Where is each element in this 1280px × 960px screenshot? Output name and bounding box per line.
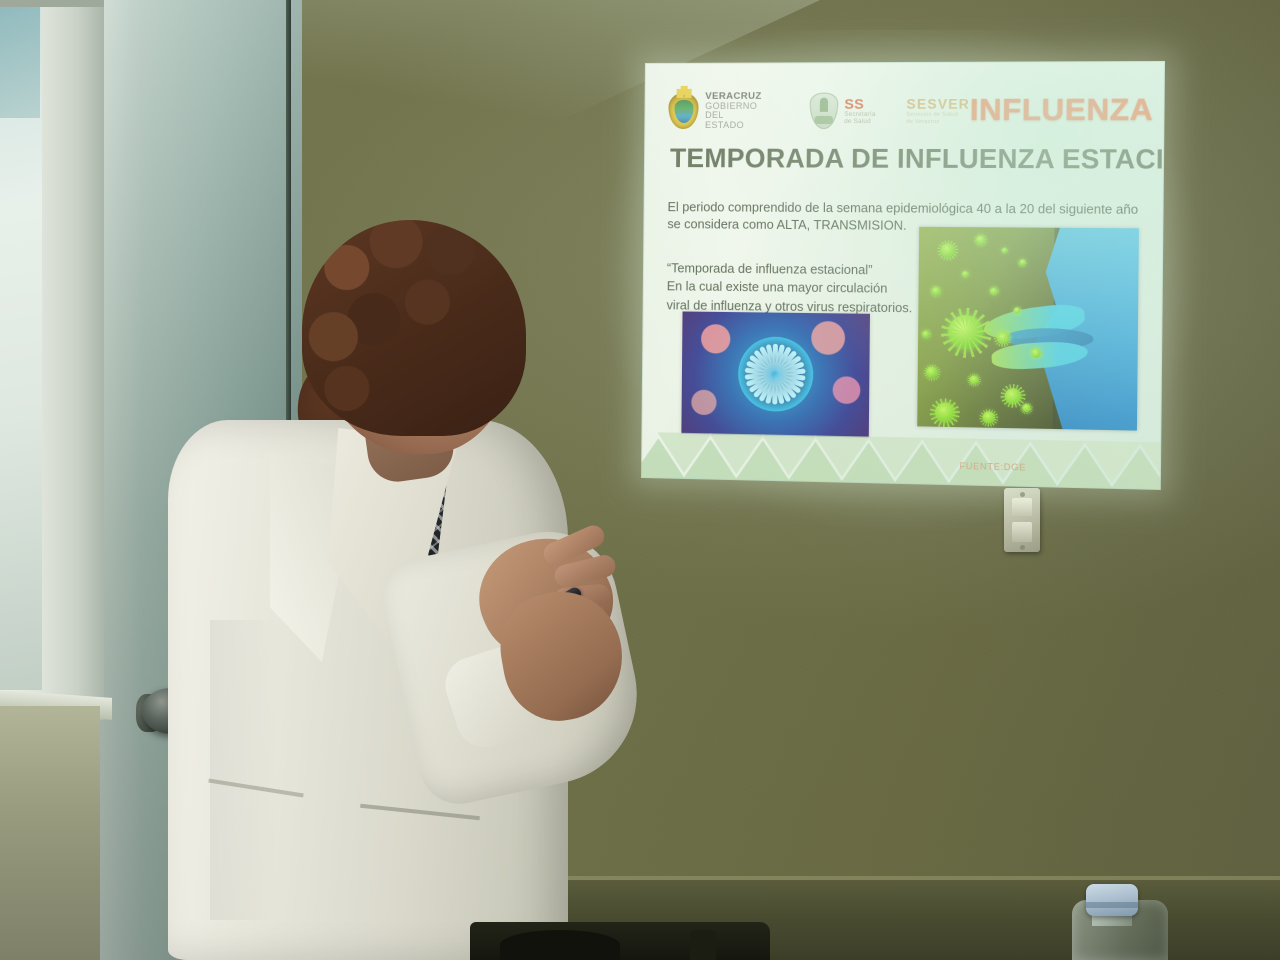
slide-logo-row: VERACRUZ GOBIERNO DEL ESTADO SS Secretar… [668, 84, 1148, 138]
light-switch-rocker-bottom[interactable] [1012, 522, 1032, 542]
sesver-logo: SESVER Servicios de Salud de Veracruz [906, 97, 970, 125]
green-virus-particle [922, 331, 929, 338]
green-virus-particle [926, 367, 937, 378]
presenter [150, 220, 620, 960]
influenza-virus-particle-photo [681, 311, 870, 437]
source-label: FUENTE:DGE [959, 461, 1026, 473]
green-virus-particle [983, 412, 996, 425]
ss-line-2: de Salud [844, 118, 875, 125]
veracruz-logo-text: VERACRUZ GOBIERNO DEL ESTADO [705, 91, 763, 130]
bottle-cap[interactable] [1086, 884, 1138, 916]
wall-wainscot [0, 706, 100, 960]
influenza-wordmark: INFLUENZA [970, 93, 1154, 128]
bottle-cap-ribbing [1086, 902, 1138, 908]
green-virus-particle [1022, 404, 1030, 412]
projected-slide: VERACRUZ GOBIERNO DEL ESTADO SS Secretar… [641, 61, 1165, 490]
switch-screw-top [1020, 492, 1025, 497]
window-mullion [0, 0, 104, 7]
coat-seam [210, 620, 380, 920]
green-virus-particle [1002, 247, 1007, 252]
green-virus-particle [970, 375, 979, 384]
table-object-dark [500, 930, 620, 960]
ss-logo-text: SS Secretaría de Salud [844, 96, 876, 125]
window-glass [0, 0, 42, 690]
window-glass-top-pane [0, 0, 40, 118]
green-virus-particle [976, 235, 985, 244]
green-virus-particles [917, 227, 1139, 431]
light-switch-rocker-top[interactable] [1012, 498, 1032, 516]
green-virus-particle [962, 271, 968, 277]
table-object-small [690, 930, 716, 960]
secretaria-de-salud-crest-icon [809, 93, 838, 129]
green-virus-particle [935, 403, 956, 424]
veracruz-coat-of-arms-icon [668, 93, 698, 129]
curly-hair [302, 220, 526, 436]
secretaria-de-salud-logo: SS Secretaría de Salud [809, 93, 875, 130]
green-virus-particle [941, 243, 956, 257]
green-virus-particle [948, 315, 984, 350]
chevron-down [1139, 442, 1162, 485]
green-virus-particle [1005, 388, 1022, 405]
sesver-line-2: de Veracruz [906, 118, 970, 124]
green-virus-particle [932, 287, 940, 295]
sesver-abbr: SESVER [906, 97, 970, 112]
green-virus-particle [996, 332, 1009, 344]
coat-of-arms-shield [674, 100, 693, 123]
veracruz-line-3: DEL ESTADO [705, 111, 763, 130]
veracruz-logo: VERACRUZ GOBIERNO DEL ESTADO [668, 91, 763, 130]
respiratory-tract-virus-illustration [917, 227, 1139, 431]
green-virus-particle [1031, 348, 1041, 357]
green-virus-particle [990, 287, 997, 294]
ss-abbr: SS [844, 96, 875, 111]
photo-scene: VERACRUZ GOBIERNO DEL ESTADO SS Secretar… [0, 0, 1280, 960]
switch-screw-bottom [1020, 545, 1025, 550]
green-virus-particle [1014, 308, 1020, 314]
green-virus-particle [1019, 260, 1025, 266]
slide-title: TEMPORADA DE INFLUENZA ESTACIONAL [670, 143, 1149, 176]
